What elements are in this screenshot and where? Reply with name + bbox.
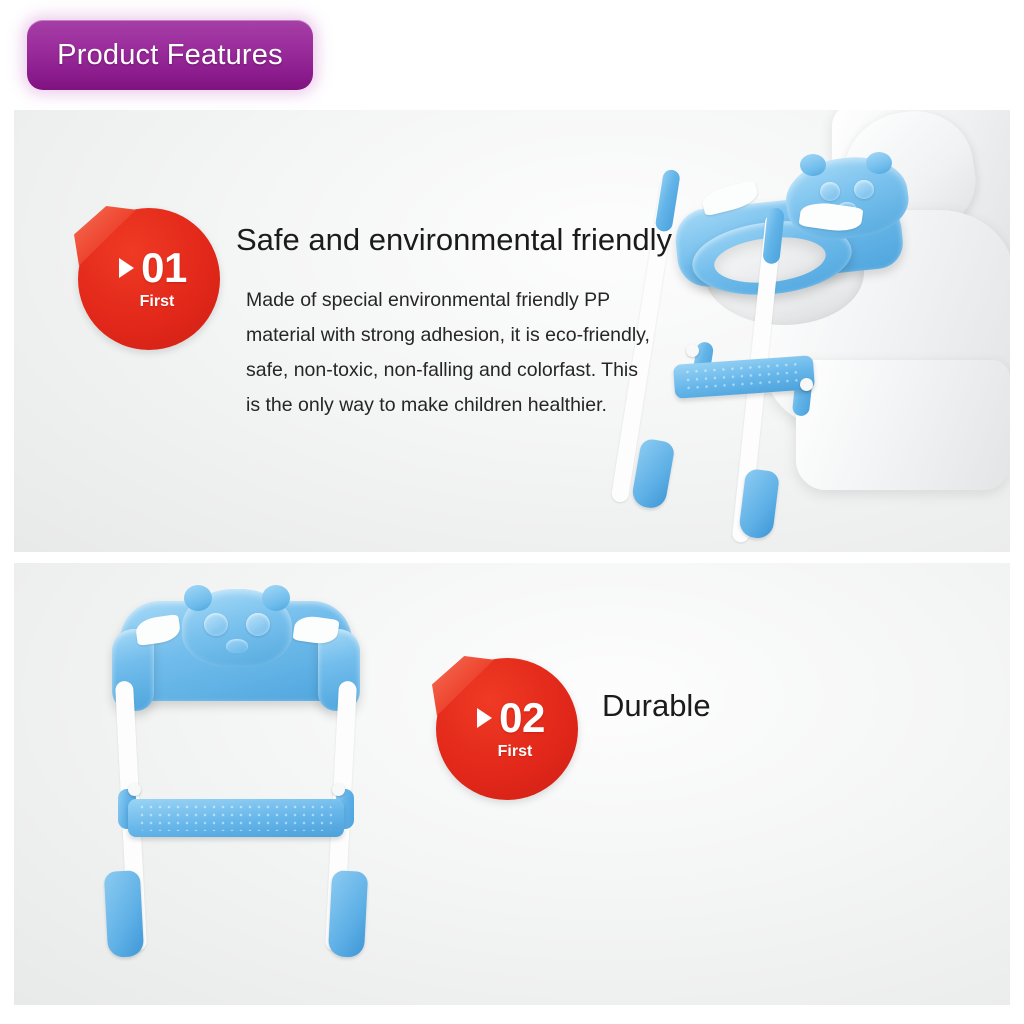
- product-features-header-label: Product Features: [57, 39, 283, 72]
- badge-content-1: 01 First: [78, 208, 220, 350]
- badge-content-2: 02 First: [436, 658, 578, 800]
- panda-ear-left-icon: [800, 154, 826, 176]
- panda-eye-left-icon-2: [204, 613, 228, 636]
- ladder-pivot-left-2: [128, 783, 141, 796]
- badge-sub-label-2: First: [498, 743, 533, 761]
- panda-eye-left-icon: [820, 182, 840, 201]
- ladder-pivot-right-2: [332, 783, 345, 796]
- panda-ear-left-icon-2: [184, 585, 212, 611]
- feature-heading-2: Durable: [602, 688, 711, 724]
- badge-number-1: 01: [141, 247, 187, 289]
- panda-ear-right-icon-2: [262, 585, 290, 611]
- feature-badge-2[interactable]: 02 First: [436, 658, 578, 800]
- ladder-step-2: [128, 799, 344, 837]
- ladder-pivot-front: [686, 344, 699, 357]
- panda-nose-icon-2: [226, 639, 248, 653]
- badge-number-row-2: 02: [477, 697, 545, 739]
- ladder-foot-left-2: [104, 870, 144, 958]
- product-image-2: [84, 571, 404, 991]
- ladder-foot-front: [630, 438, 675, 511]
- feature-panel-2: 02 First Durable: [14, 563, 1010, 1005]
- panda-eye-right-icon-2: [246, 613, 270, 636]
- toilet-pedestal: [796, 360, 1010, 490]
- ladder-pivot-back: [800, 378, 813, 391]
- ladder-foot-right-2: [328, 870, 368, 958]
- product-image-1: [614, 110, 1010, 552]
- badge-number-2: 02: [499, 697, 545, 739]
- ladder-foot-back: [738, 468, 780, 540]
- feature-badge-1[interactable]: 01 First: [78, 208, 220, 350]
- product-features-header-button[interactable]: Product Features: [27, 20, 313, 90]
- panda-eye-right-icon: [854, 180, 874, 199]
- feature-panel-1: 01 First Safe and environmental friendly…: [14, 110, 1010, 552]
- badge-sub-label-1: First: [140, 293, 175, 311]
- feature-body-1: Made of special environmental friendly P…: [246, 283, 656, 423]
- panda-ear-right-icon: [866, 152, 892, 174]
- play-triangle-icon: [119, 258, 134, 278]
- badge-number-row-1: 01: [119, 247, 187, 289]
- play-triangle-icon: [477, 708, 492, 728]
- feature-heading-1: Safe and environmental friendly: [236, 222, 672, 258]
- product-features-page: Product Features: [0, 0, 1024, 1024]
